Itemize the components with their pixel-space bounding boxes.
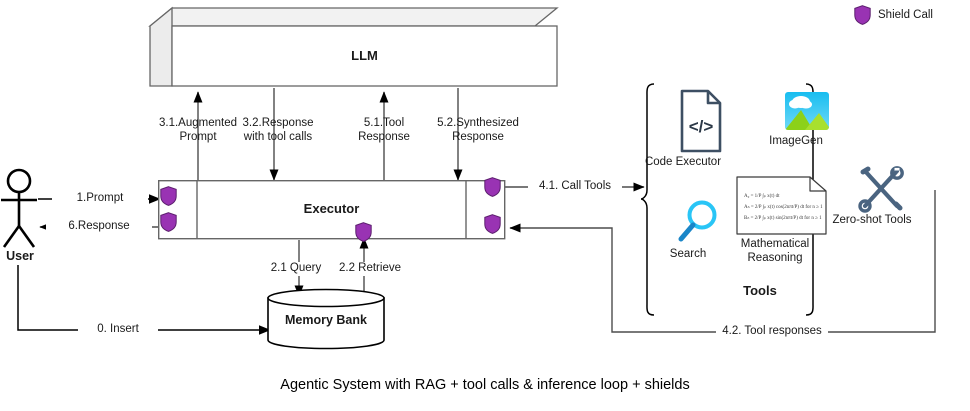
svg-text:Aₙ = 2/P ∫ₚ x(t) cos(2nπt/P) d: Aₙ = 2/P ∫ₚ x(t) cos(2nπt/P) dt for n ≥ … [744, 204, 823, 210]
executor-label: Executor [197, 202, 466, 216]
memory-bank-node[interactable]: Memory Bank [266, 288, 386, 350]
tool-zero-shot[interactable]: Zero-shot Tools [843, 165, 918, 228]
llm-node[interactable]: LLM [150, 4, 558, 88]
shield-icon[interactable] [484, 214, 501, 234]
edge-label-insert: 0. Insert [78, 323, 158, 337]
shield-icon[interactable] [160, 212, 177, 232]
user-stick-figure-icon [0, 168, 52, 250]
tools-group-label: Tools [700, 284, 820, 298]
edge-label-tool-resp: 5.1.Tool Response [336, 117, 432, 144]
edge-label-query: 2.1 Query [262, 262, 330, 276]
tool-code-executor[interactable]: </> Code Executor [653, 88, 738, 170]
tool-math-reasoning[interactable]: A₀ = 1/P ∫ₚ x(t) dt Aₙ = 2/P ∫ₚ x(t) cos… [729, 176, 834, 265]
legend-label: Shield Call [878, 9, 958, 23]
crossed-wrench-screwdriver-icon [852, 165, 910, 213]
tool-label: Mathematical Reasoning [716, 238, 834, 265]
user-node[interactable]: User [0, 168, 52, 250]
user-label: User [0, 250, 42, 264]
shield-icon[interactable] [484, 177, 501, 197]
shield-icon[interactable] [160, 186, 177, 206]
shield-icon [854, 5, 871, 25]
edge-label-response: 6.Response [46, 220, 152, 234]
svg-text:Bₙ = 2/P ∫ₚ x(t) sin(2nπt/P) d: Bₙ = 2/P ∫ₚ x(t) sin(2nπt/P) dt for n ≥ … [744, 215, 822, 221]
code-document-icon: </> [666, 88, 726, 154]
diagram-caption: Agentic System with RAG + tool calls & i… [0, 377, 970, 393]
tool-imagegen[interactable]: ImageGen [768, 90, 846, 149]
edge-label-retrieve: 2.2 Retrieve [330, 262, 410, 276]
edge-label-synth-resp: 5.2.Synthesized Response [420, 117, 536, 144]
math-formula-document-icon: A₀ = 1/P ∫ₚ x(t) dt Aₙ = 2/P ∫ₚ x(t) cos… [736, 176, 828, 236]
svg-text:</>: </> [688, 117, 713, 136]
edge-label-prompt: 1.Prompt [52, 192, 148, 206]
memory-bank-label: Memory Bank [266, 314, 386, 328]
svg-text:A₀ = 1/P ∫ₚ x(t) dt: A₀ = 1/P ∫ₚ x(t) dt [744, 193, 780, 199]
edge-label-tool-responses: 4.2. Tool responses [716, 325, 828, 339]
shield-icon[interactable] [355, 222, 372, 242]
tool-label: ImageGen [746, 135, 846, 149]
executor-node[interactable]: Executor [158, 180, 506, 240]
llm-label: LLM [172, 49, 557, 63]
edge-label-resp-tools: 3.2.Response with tool calls [222, 117, 334, 144]
tool-label: Zero-shot Tools [826, 214, 918, 228]
tool-label: Code Executor [628, 156, 738, 170]
edge-label-call-tools: 4.1. Call Tools [528, 180, 622, 194]
llm-cube-shape [150, 4, 558, 88]
image-thumbnail-icon [779, 90, 835, 132]
